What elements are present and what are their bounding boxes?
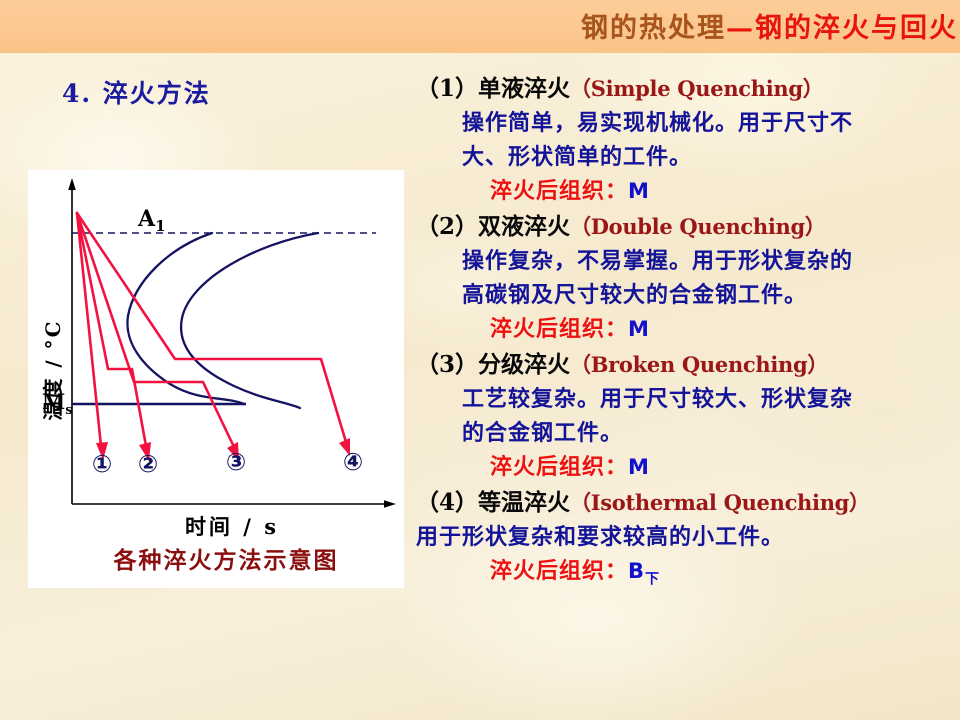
cooling-curve-2	[77, 213, 146, 446]
method-4-title: （4）等温淬火（Isothermal Quenching）	[416, 486, 960, 520]
method-2-name-en: （Double Quenching）	[570, 214, 826, 239]
method-2-name-cn: 双液淬火	[478, 213, 570, 240]
cooling-curve-4	[77, 213, 346, 442]
method-item-2: （2）双液淬火（Double Quenching） 操作复杂，不易掌握。用于形状…	[416, 210, 960, 346]
method-4-body-line-1: 用于形状复杂和要求较高的小工件。	[416, 520, 960, 554]
method-3-result-label: 淬火后组织：	[490, 454, 628, 480]
method-3-result-value: M	[628, 455, 650, 479]
methods-list: （1）单液淬火（Simple Quenching） 操作简单，易实现机械化。用于…	[416, 72, 960, 598]
a1-label: A1	[137, 206, 166, 235]
method-4-result-subscript: 下	[645, 571, 660, 587]
method-2-result-value: M	[628, 317, 650, 341]
page-title: 钢的热处理—钢的淬火与回火	[581, 6, 958, 45]
method-item-1: （1）单液淬火（Simple Quenching） 操作简单，易实现机械化。用于…	[416, 72, 960, 208]
method-2-body-line-2: 高碳钢及尺寸较大的合金钢工件。	[462, 278, 960, 312]
method-4-number: （4）	[416, 489, 478, 516]
method-1-body-line-2: 大、形状简单的工件。	[462, 140, 960, 174]
method-1-result-value: M	[628, 179, 650, 203]
method-2-title: （2）双液淬火（Double Quenching）	[416, 210, 960, 244]
method-2-result: 淬火后组织：M	[490, 312, 960, 346]
curve-marker-3: ③	[226, 448, 246, 476]
page-title-main: 钢的热处理	[581, 13, 726, 44]
section-heading: 4. 淬火方法	[62, 74, 211, 110]
header-banner: 钢的热处理—钢的淬火与回火	[0, 0, 960, 53]
page-title-highlight: —钢的淬火与回火	[726, 13, 958, 44]
method-item-3: （3）分级淬火（Broken Quenching） 工艺较复杂。用于尺寸较大、形…	[416, 348, 960, 484]
method-1-result: 淬火后组织：M	[490, 174, 960, 208]
method-4-result-value: B	[628, 559, 645, 583]
method-4-name-en: （Isothermal Quenching）	[570, 490, 870, 515]
method-4-name-cn: 等温淬火	[478, 489, 570, 516]
quenching-methods-diagram: A1 Ms 温度 / °C ① ② ③ ④ 时间 / s 各种淬火方法示意图	[28, 170, 404, 588]
ttt-diagram-svg: A1 Ms 温度 / °C ① ② ③ ④ 时间 / s 各种淬火方法示意图	[28, 170, 404, 588]
method-1-title: （1）单液淬火（Simple Quenching）	[416, 72, 960, 106]
method-3-name-en: （Broken Quenching）	[570, 352, 828, 377]
method-2-result-label: 淬火后组织：	[490, 316, 628, 342]
method-1-body-line-1: 操作简单，易实现机械化。用于尺寸不	[462, 106, 960, 140]
curve-marker-2: ②	[138, 450, 158, 478]
method-4-result: 淬火后组织：B下	[490, 554, 960, 596]
method-1-result-label: 淬火后组织：	[490, 178, 628, 204]
method-1-number: （1）	[416, 75, 478, 102]
y-axis-label: 温度 / °C	[41, 319, 65, 420]
curve-marker-1: ①	[92, 450, 112, 478]
ttt-start-curve	[127, 233, 244, 404]
method-3-title: （3）分级淬火（Broken Quenching）	[416, 348, 960, 382]
method-3-name-cn: 分级淬火	[478, 351, 570, 378]
method-2-body-line-1: 操作复杂，不易掌握。用于形状复杂的	[462, 244, 960, 278]
method-2-number: （2）	[416, 213, 478, 240]
method-item-4: （4）等温淬火（Isothermal Quenching） 用于形状复杂和要求较…	[416, 486, 960, 596]
x-axis-label: 时间 / s	[185, 514, 279, 539]
method-3-number: （3）	[416, 351, 478, 378]
method-4-result-label: 淬火后组织：	[490, 558, 628, 584]
method-3-body-line-1: 工艺较复杂。用于尺寸较大、形状复杂	[462, 382, 960, 416]
method-3-body-line-2: 的合金钢工件。	[462, 416, 960, 450]
method-1-name-en: （Simple Quenching）	[570, 76, 823, 101]
curve-marker-4: ④	[343, 448, 363, 476]
figure-caption: 各种淬火方法示意图	[113, 547, 339, 574]
method-1-name-cn: 单液淬火	[478, 75, 570, 102]
method-3-result: 淬火后组织：M	[490, 450, 960, 484]
